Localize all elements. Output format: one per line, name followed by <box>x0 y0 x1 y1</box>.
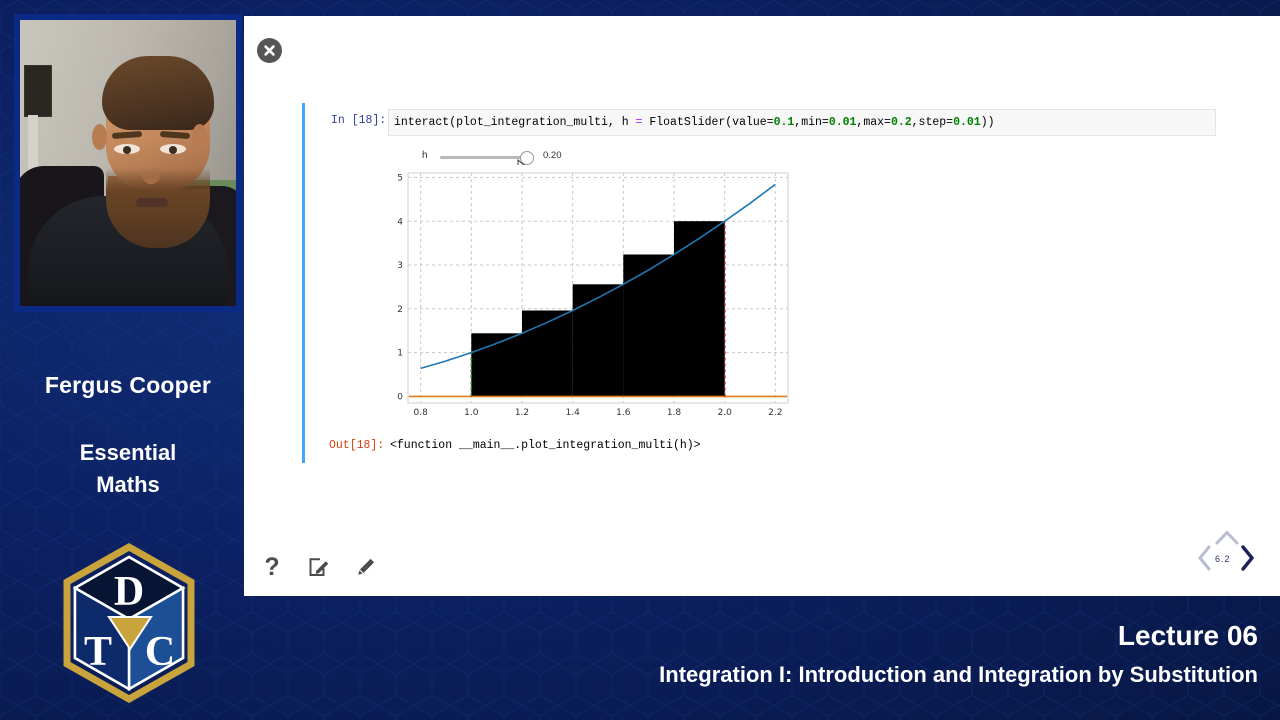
code-number-4: 0.01 <box>953 116 981 129</box>
course-title: Essential Maths <box>0 437 256 501</box>
webcam-person-mouth <box>136 198 168 207</box>
cell-selected-indicator <box>302 103 305 463</box>
svg-text:2.2: 2.2 <box>768 408 782 418</box>
nav-next-button[interactable] <box>1238 544 1256 572</box>
code-segment-6: )) <box>981 116 995 129</box>
webcam-person-nose <box>142 154 160 184</box>
code-segment-3: ,min= <box>794 116 829 129</box>
dtc-logo: D T C <box>63 543 195 703</box>
presenter-name: Fergus Cooper <box>0 372 256 399</box>
svg-text:1.6: 1.6 <box>616 408 631 418</box>
svg-text:1.0: 1.0 <box>464 408 479 418</box>
webcam-panel <box>14 14 242 312</box>
output-prompt-label: Out[18]: <box>329 439 384 452</box>
code-segment-4: ,max= <box>856 116 891 129</box>
slider-track[interactable] <box>440 156 524 159</box>
webcam-person-ear-left <box>92 124 107 150</box>
edit-box-pencil-icon <box>307 555 331 579</box>
course-title-line-1: Essential <box>0 437 256 469</box>
logo-letter-d: D <box>114 569 144 615</box>
webcam-video-feed <box>20 20 236 306</box>
webcam-person-ear-right <box>192 124 207 150</box>
svg-text:4: 4 <box>397 217 403 227</box>
svg-text:1.2: 1.2 <box>515 408 529 418</box>
pencil-button[interactable] <box>352 552 380 582</box>
code-number-1: 0.1 <box>774 116 795 129</box>
code-text: interact(plot_integration_multi, h = Flo… <box>394 116 995 129</box>
code-number-2: 0.01 <box>829 116 857 129</box>
webcam-person-hair <box>102 56 214 130</box>
edit-button[interactable] <box>305 552 333 582</box>
logo-letter-t: T <box>84 629 112 675</box>
cell-input-row: In [18]: interact(plot_integration_multi… <box>302 109 1218 137</box>
code-number-3: 0.2 <box>891 116 912 129</box>
float-slider-widget[interactable]: h 0.20 <box>422 147 652 167</box>
output-text: <function __main__.plot_integration_mult… <box>390 439 701 452</box>
svg-text:0: 0 <box>397 393 403 403</box>
logo-letter-c: C <box>145 629 175 675</box>
lecture-number: Lecture 06 <box>1118 620 1258 652</box>
nav-up-button[interactable] <box>1214 528 1240 546</box>
svg-text:2: 2 <box>397 305 403 315</box>
close-button[interactable] <box>257 38 282 63</box>
notebook-cell[interactable]: In [18]: interact(plot_integration_multi… <box>302 103 1218 463</box>
webcam-picture-frame <box>24 65 52 117</box>
svg-text:0.8: 0.8 <box>414 408 429 418</box>
slide-number-label: 6.2 <box>1215 554 1231 564</box>
svg-text:5: 5 <box>397 174 403 184</box>
svg-text:1: 1 <box>397 349 403 359</box>
code-input-box[interactable]: interact(plot_integration_multi, h = Flo… <box>388 109 1216 136</box>
nav-prev-button[interactable] <box>1196 544 1214 572</box>
slider-label: h <box>422 150 428 161</box>
webcam-person-pupil-right <box>169 146 177 154</box>
close-icon <box>262 43 277 58</box>
course-title-line-2: Maths <box>0 469 256 501</box>
help-button[interactable]: ? <box>258 552 286 582</box>
slide-background: Fergus Cooper Essential Maths D T C In [… <box>0 0 1280 720</box>
svg-text:3: 3 <box>397 261 403 271</box>
lecture-subtitle: Integration I: Introduction and Integrat… <box>659 662 1258 688</box>
code-segment-1: interact(plot_integration_multi, h <box>394 116 636 129</box>
webcam-person-pupil-left <box>123 146 131 154</box>
svg-text:1.4: 1.4 <box>566 408 581 418</box>
input-prompt-label: In [18]: <box>331 114 386 127</box>
slider-value-readout: 0.20 <box>543 150 562 161</box>
question-mark-icon: ? <box>264 555 279 580</box>
code-segment-2: FloatSlider(value= <box>642 116 773 129</box>
svg-text:1.8: 1.8 <box>667 408 682 418</box>
code-segment-5: ,step= <box>912 116 953 129</box>
panel-toolbar: ? <box>258 552 380 582</box>
slide-navigation: 6.2 <box>1196 528 1258 584</box>
integration-plot: 0 1 2 3 4 5 0.8 1.0 1.2 1.4 1.6 1.8 2.0 … <box>390 165 808 423</box>
svg-text:2.0: 2.0 <box>718 408 733 418</box>
pencil-icon <box>354 555 378 579</box>
